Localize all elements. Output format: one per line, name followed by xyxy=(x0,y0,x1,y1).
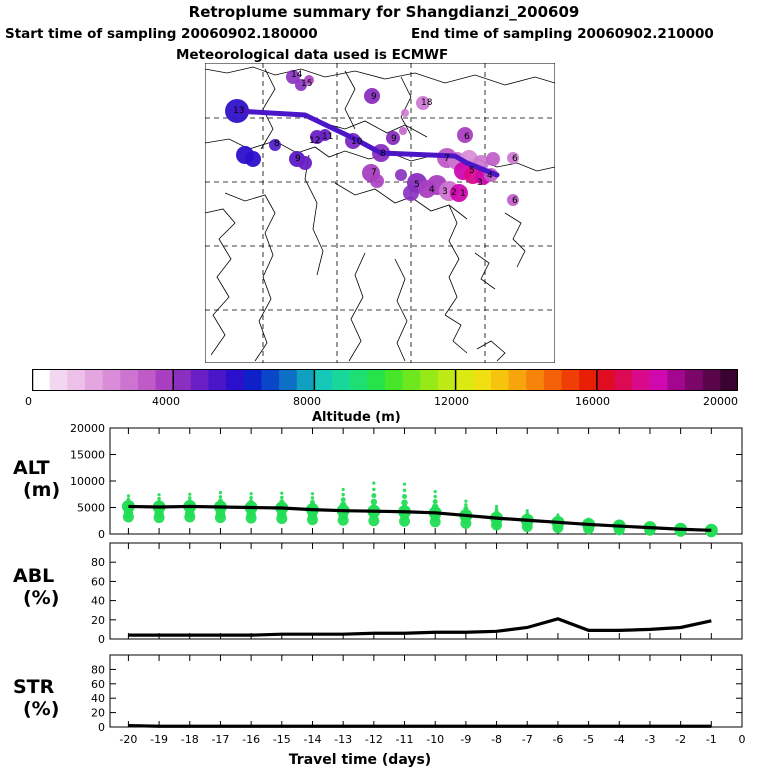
svg-text:80: 80 xyxy=(91,556,105,569)
svg-text:20: 20 xyxy=(91,707,105,720)
svg-text:10: 10 xyxy=(351,137,363,147)
svg-text:-2: -2 xyxy=(675,733,686,746)
cbar-tick-4: 16000 xyxy=(575,395,610,408)
svg-text:6: 6 xyxy=(464,132,470,142)
svg-text:15000: 15000 xyxy=(70,449,105,462)
svg-text:0: 0 xyxy=(98,528,105,541)
svg-text:3: 3 xyxy=(442,187,448,197)
svg-text:-1: -1 xyxy=(706,733,717,746)
map-panel: 1415 918 1311 1210 98 69 87 67 54 35 43 … xyxy=(205,63,555,363)
cbar-tick-0: 0 xyxy=(25,395,32,408)
svg-text:0: 0 xyxy=(739,733,746,746)
met-data-label: Meteorological data used is ECMWF xyxy=(176,47,448,63)
svg-text:20: 20 xyxy=(91,614,105,627)
svg-text:60: 60 xyxy=(91,678,105,691)
svg-text:-17: -17 xyxy=(211,733,229,746)
svg-text:-5: -5 xyxy=(583,733,594,746)
svg-text:60: 60 xyxy=(91,575,105,588)
cbar-tick-5: 20000 xyxy=(703,395,738,408)
svg-text:-8: -8 xyxy=(491,733,502,746)
svg-text:0: 0 xyxy=(98,633,105,646)
svg-text:5: 5 xyxy=(414,180,420,190)
svg-text:9: 9 xyxy=(371,92,377,102)
svg-text:8: 8 xyxy=(380,149,386,159)
colorbar-label: Altitude (m) xyxy=(312,410,401,425)
colorbar xyxy=(32,369,738,391)
svg-text:40: 40 xyxy=(91,595,105,608)
svg-text:-4: -4 xyxy=(614,733,625,746)
colorbar-svg xyxy=(32,369,738,391)
svg-text:4: 4 xyxy=(429,185,435,195)
abl-axis-label: ABL (%) xyxy=(13,565,59,609)
svg-text:3: 3 xyxy=(477,178,483,188)
svg-text:6: 6 xyxy=(512,154,518,164)
timeseries-svg: 05000100001500020000020406080020406080-2… xyxy=(0,424,768,768)
svg-text:-11: -11 xyxy=(396,733,414,746)
alt-axis-label-line1: ALT xyxy=(13,457,60,479)
svg-text:-6: -6 xyxy=(552,733,563,746)
end-time-label: End time of sampling 20060902.210000 xyxy=(411,26,714,42)
svg-text:11: 11 xyxy=(322,132,333,142)
str-axis-label-line2: (%) xyxy=(23,698,59,720)
svg-text:7: 7 xyxy=(371,168,377,178)
cbar-tick-1: 4000 xyxy=(152,395,180,408)
svg-text:-18: -18 xyxy=(181,733,199,746)
str-axis-label-line1: STR xyxy=(13,676,59,698)
svg-text:20000: 20000 xyxy=(70,424,105,435)
start-time-label: Start time of sampling 20060902.180000 xyxy=(5,26,318,42)
svg-text:2: 2 xyxy=(451,188,457,198)
cbar-tick-2: 8000 xyxy=(293,395,321,408)
abl-axis-label-line2: (%) xyxy=(23,587,59,609)
timeseries-panels: 05000100001500020000020406080020406080-2… xyxy=(0,424,768,768)
svg-text:12: 12 xyxy=(309,136,320,146)
svg-text:8: 8 xyxy=(274,139,280,149)
alt-axis-label: ALT (m) xyxy=(13,457,60,501)
svg-text:1: 1 xyxy=(460,189,466,199)
svg-text:5: 5 xyxy=(469,166,475,176)
alt-axis-label-line2: (m) xyxy=(23,479,60,501)
svg-text:18: 18 xyxy=(421,98,433,108)
svg-text:10000: 10000 xyxy=(70,475,105,488)
svg-text:-19: -19 xyxy=(150,733,168,746)
svg-text:5000: 5000 xyxy=(77,502,105,515)
map-svg: 1415 918 1311 1210 98 69 87 67 54 35 43 … xyxy=(205,63,555,363)
svg-text:-12: -12 xyxy=(365,733,383,746)
svg-text:-10: -10 xyxy=(426,733,444,746)
svg-text:7: 7 xyxy=(444,154,450,164)
x-axis-label: Travel time (days) xyxy=(289,752,431,768)
svg-text:-20: -20 xyxy=(119,733,137,746)
svg-text:-16: -16 xyxy=(242,733,260,746)
svg-text:-14: -14 xyxy=(304,733,322,746)
svg-text:0: 0 xyxy=(98,721,105,734)
svg-text:80: 80 xyxy=(91,663,105,676)
page-title: Retroplume summary for Shangdianzi_20060… xyxy=(0,3,768,21)
svg-text:-15: -15 xyxy=(273,733,291,746)
svg-text:13: 13 xyxy=(233,106,244,116)
svg-text:15: 15 xyxy=(301,79,312,89)
svg-text:40: 40 xyxy=(91,692,105,705)
svg-text:-9: -9 xyxy=(460,733,471,746)
svg-text:9: 9 xyxy=(391,134,397,144)
svg-text:6: 6 xyxy=(512,196,518,206)
cbar-tick-3: 12000 xyxy=(434,395,469,408)
svg-text:9: 9 xyxy=(295,154,301,164)
abl-axis-label-line1: ABL xyxy=(13,565,59,587)
colorbar-ticklabels: 0 4000 8000 12000 16000 20000 xyxy=(0,395,768,411)
svg-text:-13: -13 xyxy=(334,733,352,746)
svg-text:-7: -7 xyxy=(522,733,533,746)
svg-text:4: 4 xyxy=(487,171,493,181)
svg-text:-3: -3 xyxy=(644,733,655,746)
str-axis-label: STR (%) xyxy=(13,676,59,720)
